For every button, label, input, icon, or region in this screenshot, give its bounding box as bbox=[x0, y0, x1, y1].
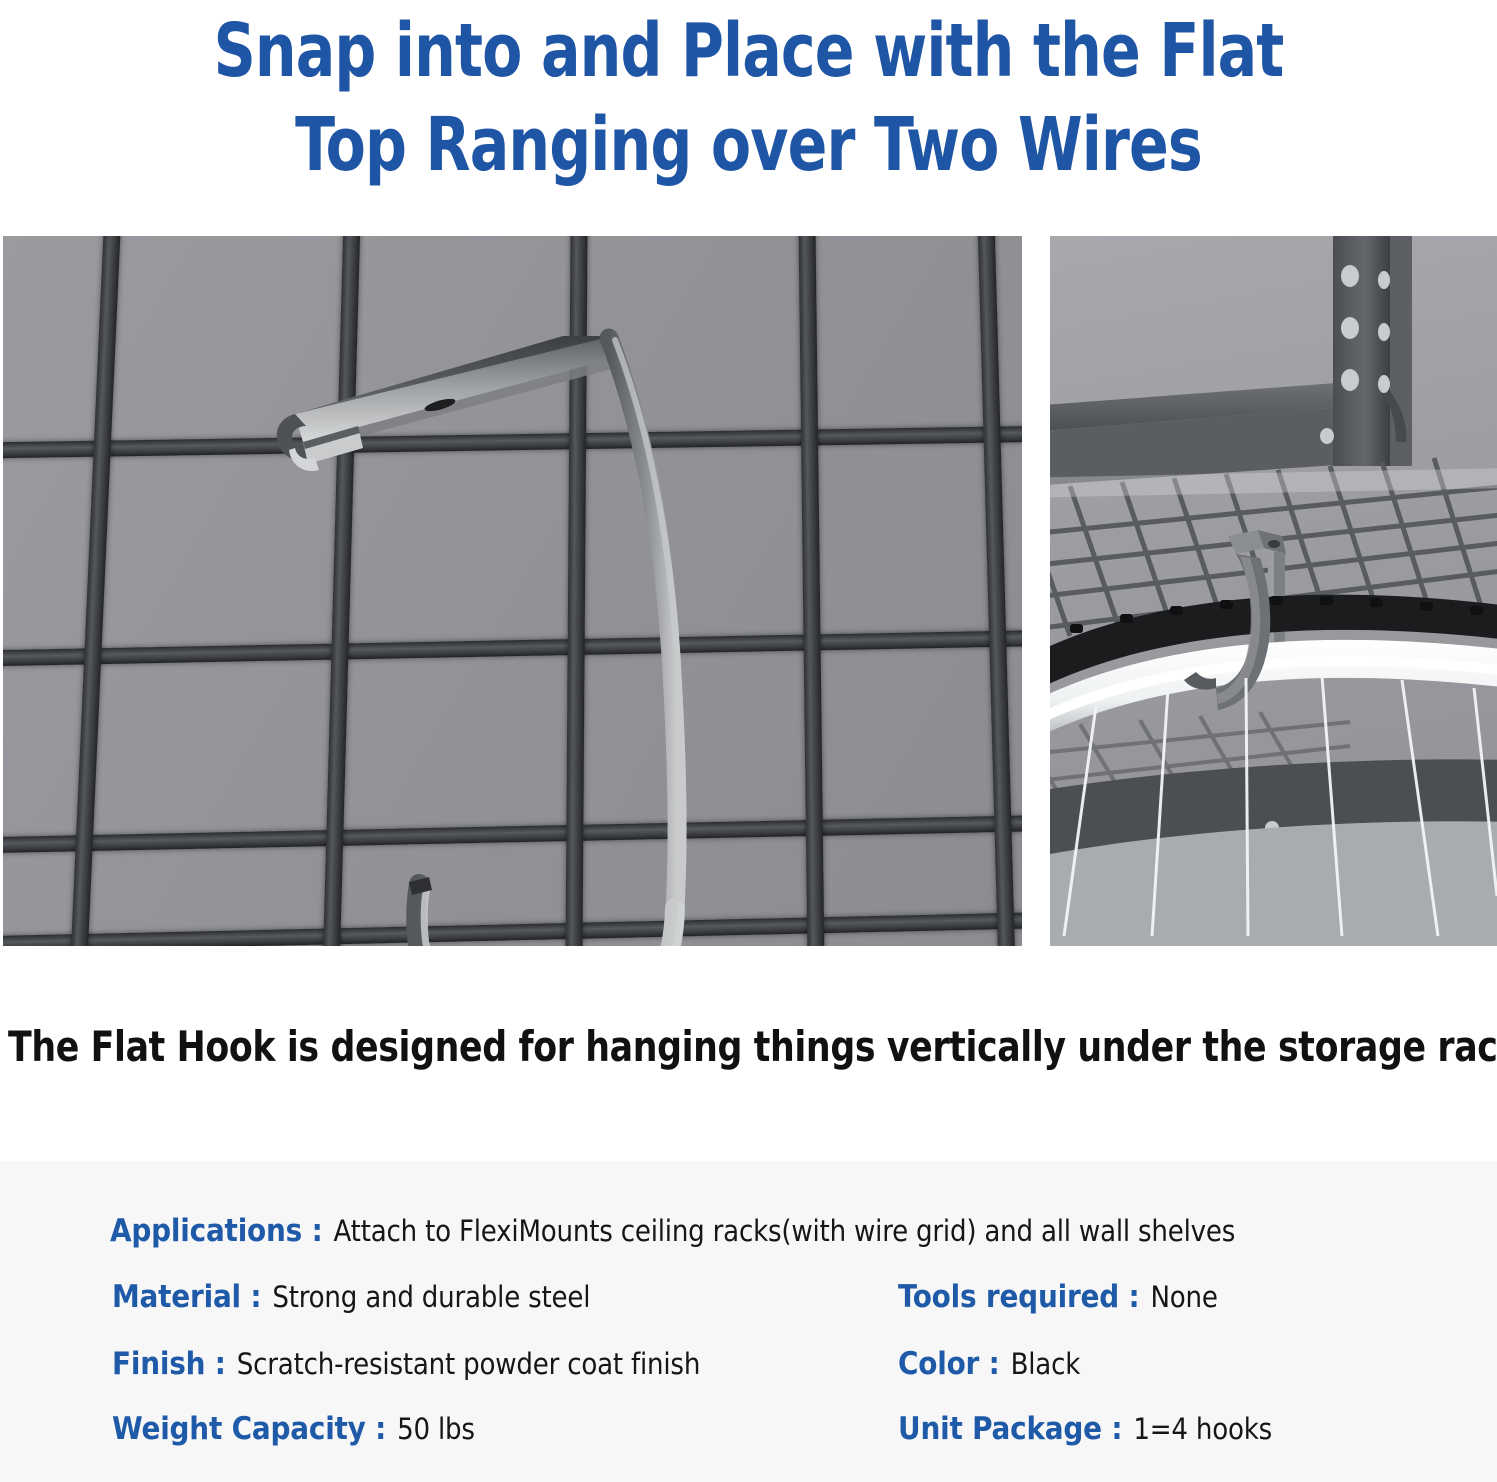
spec-row-material: Material :Strong and durable steel bbox=[112, 1279, 590, 1315]
spec-row-unit-package: Unit Package :1=4 hooks bbox=[898, 1411, 1272, 1447]
spec-row-weight-capacity: Weight Capacity :50 lbs bbox=[112, 1411, 475, 1447]
spec-label-material: Material : bbox=[112, 1279, 261, 1315]
product-infographic: Snap into and Place with the Flat Top Ra… bbox=[0, 0, 1497, 1482]
specifications-panel: Applications :Attach to FlexiMounts ceil… bbox=[0, 1161, 1497, 1482]
spec-row-applications: Applications :Attach to FlexiMounts ceil… bbox=[110, 1213, 1235, 1249]
spec-label-color: Color : bbox=[898, 1346, 1000, 1382]
spec-value-applications: Attach to FlexiMounts ceiling racks(with… bbox=[334, 1214, 1236, 1248]
page-title: Snap into and Place with the Flat Top Ra… bbox=[90, 4, 1407, 192]
spec-label-finish: Finish : bbox=[112, 1346, 226, 1382]
photo-flat-hook-holding-bike-wheel bbox=[1050, 236, 1497, 946]
spec-value-finish: Scratch-resistant powder coat finish bbox=[237, 1347, 700, 1381]
spec-value-material: Strong and durable steel bbox=[272, 1280, 590, 1314]
spec-label-tools-required: Tools required : bbox=[898, 1279, 1139, 1315]
spec-value-unit-package: 1=4 hooks bbox=[1133, 1412, 1272, 1446]
product-description-caption: The Flat Hook is designed for hanging th… bbox=[8, 1020, 1371, 1074]
spec-label-unit-package: Unit Package : bbox=[898, 1411, 1122, 1447]
spec-value-tools-required: None bbox=[1150, 1280, 1217, 1314]
spec-label-weight-capacity: Weight Capacity : bbox=[112, 1411, 386, 1447]
ceiling-rack-illustration bbox=[1050, 236, 1497, 946]
spec-row-finish: Finish :Scratch-resistant powder coat fi… bbox=[112, 1346, 700, 1382]
spec-value-color: Black bbox=[1011, 1347, 1081, 1381]
flat-hook-illustration bbox=[3, 236, 1022, 946]
spec-label-applications: Applications : bbox=[110, 1213, 323, 1249]
spec-row-tools-required: Tools required :None bbox=[898, 1279, 1218, 1315]
photo-flat-hook-on-wire-grid bbox=[3, 236, 1022, 946]
spec-value-weight-capacity: 50 lbs bbox=[397, 1412, 475, 1446]
spec-row-color: Color :Black bbox=[898, 1346, 1080, 1382]
photo-row bbox=[3, 236, 1497, 946]
